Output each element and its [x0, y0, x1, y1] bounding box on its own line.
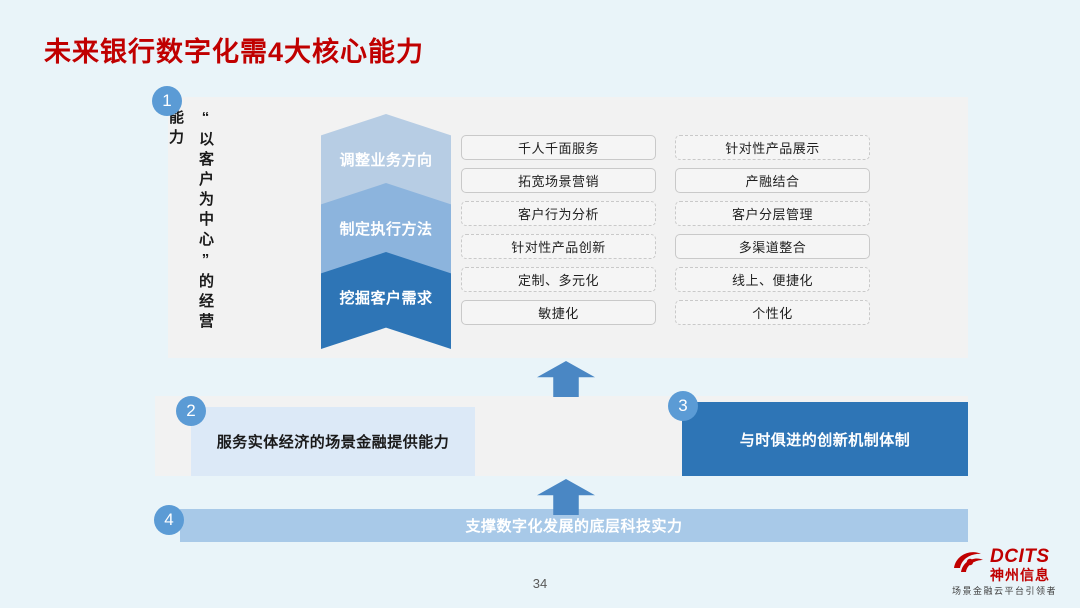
capability-item[interactable]: 针对性产品展示 [675, 135, 870, 160]
capability-item[interactable]: 客户分层管理 [675, 201, 870, 226]
section-box-3-label: 与时俱进的创新机制体制 [740, 429, 911, 450]
capability-item[interactable]: 敏捷化 [461, 300, 656, 325]
capability-item[interactable]: 针对性产品创新 [461, 234, 656, 259]
chevron-stack: 调整业务方向 制定执行方法 挖掘客户需求 [321, 114, 451, 349]
middle-band: 服务实体经济的场景金融提供能力 与时俱进的创新机制体制 [155, 396, 968, 476]
logo-tagline: 场景金融云平台引领者 [952, 584, 1057, 597]
section-box-3[interactable]: 与时俱进的创新机制体制 [682, 402, 968, 476]
capability-item[interactable]: 产融结合 [675, 168, 870, 193]
page-number: 34 [0, 576, 1080, 591]
capability-panel: “以客户为中心”的经营能力 调整业务方向 制定执行方法 挖掘客户需求 千人千面服… [168, 97, 968, 358]
company-logo: DCITS 神州信息 场景金融云平台引领者 [950, 544, 1070, 600]
page-title: 未来银行数字化需4大核心能力 [44, 30, 424, 69]
logo-chinese-name: 神州信息 [990, 565, 1050, 585]
chevron-step-3-label: 挖掘客户需求 [339, 287, 432, 308]
section-box-2-label: 服务实体经济的场景金融提供能力 [217, 431, 450, 452]
capability-item[interactable]: 定制、多元化 [461, 267, 656, 292]
section-bar-4-label: 支撑数字化发展的底层科技实力 [465, 515, 682, 536]
capability-item[interactable]: 多渠道整合 [675, 234, 870, 259]
capability-list-left: 千人千面服务 拓宽场景营销 客户行为分析 针对性产品创新 定制、多元化 敏捷化 [461, 135, 656, 333]
capability-item[interactable]: 个性化 [675, 300, 870, 325]
capability-item[interactable]: 拓宽场景营销 [461, 168, 656, 193]
up-arrow-icon [537, 361, 595, 397]
section-badge-3: 3 [668, 391, 698, 421]
section-badge-2: 2 [176, 396, 206, 426]
section-box-2[interactable]: 服务实体经济的场景金融提供能力 [191, 407, 475, 476]
capability-item[interactable]: 线上、便捷化 [675, 267, 870, 292]
capability-item[interactable]: 客户行为分析 [461, 201, 656, 226]
section-badge-4: 4 [154, 505, 184, 535]
chevron-step-2-label: 制定执行方法 [339, 218, 432, 239]
capability-item[interactable]: 千人千面服务 [461, 135, 656, 160]
vertical-statement-text: “以客户为中心”的经营能力 [190, 109, 220, 349]
chevron-step-1-label: 调整业务方向 [339, 149, 432, 170]
section-badge-1: 1 [152, 86, 182, 116]
capability-list-right: 针对性产品展示 产融结合 客户分层管理 多渠道整合 线上、便捷化 个性化 [675, 135, 870, 333]
dcits-swoosh-icon [952, 548, 986, 576]
